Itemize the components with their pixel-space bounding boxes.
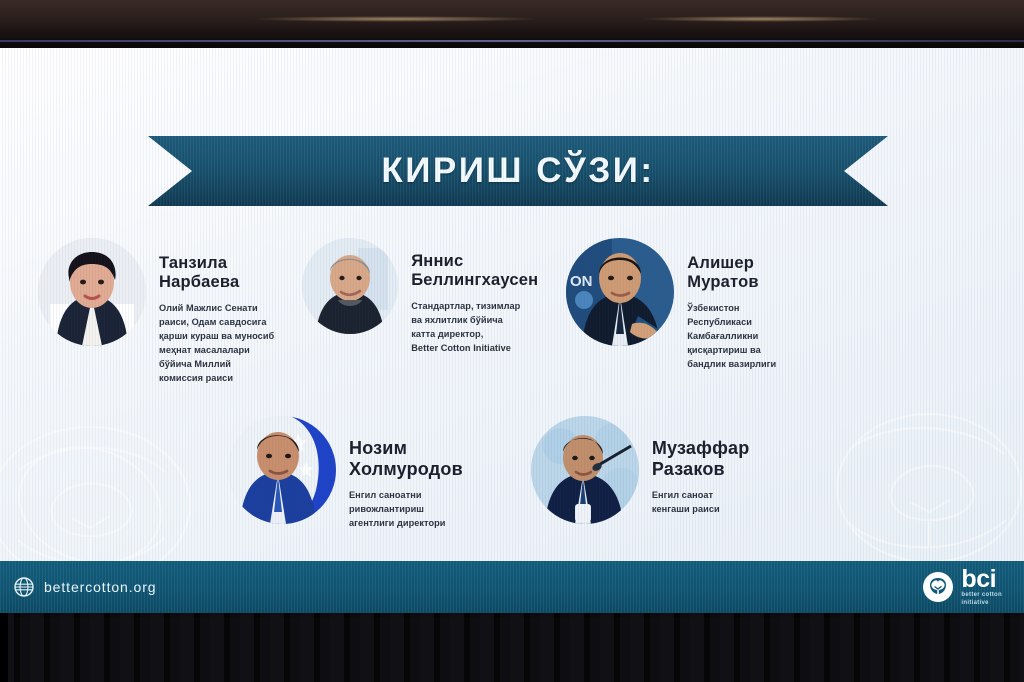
speaker-name: Яннис Беллингхаусен xyxy=(411,252,538,291)
speaker-name: Алишер Муратов xyxy=(687,254,776,293)
page-title: КИРИШ СЎЗИ: xyxy=(381,151,654,191)
avatar: ON xyxy=(566,238,674,346)
room-wall-backdrop xyxy=(0,0,1024,50)
avatar xyxy=(228,416,336,524)
speaker-role: Олий Мажлис Сенати раиси, Одам савдосига… xyxy=(159,302,274,386)
wall-light-strip xyxy=(0,40,1024,42)
speaker-card: ON xyxy=(566,238,776,386)
projection-screen: КИРИШ СЎЗИ: xyxy=(0,48,1024,613)
conference-room-photo: КИРИШ СЎЗИ: xyxy=(0,0,1024,682)
stage-left-shadow xyxy=(0,613,8,682)
website-group: bettercotton.org xyxy=(14,577,156,597)
globe-icon xyxy=(14,577,34,597)
speaker-list: Танзила Нарбаева Олий Мажлис Сенати раис… xyxy=(0,238,1024,531)
bci-word: bci xyxy=(961,565,996,593)
avatar xyxy=(38,238,146,346)
avatar xyxy=(531,416,639,524)
ceiling-light-glow-secondary xyxy=(640,16,880,22)
speaker-role: Енгил саноат кенгаши раиси xyxy=(652,489,750,517)
speaker-info: Танзила Нарбаева Олий Мажлис Сенати раис… xyxy=(146,238,274,386)
stage-skirt-pleats xyxy=(0,613,1024,682)
speaker-card: Музаффар Разаков Енгил саноат кенгаши ра… xyxy=(531,416,750,531)
slide-footer: bettercotton.org bci xyxy=(0,561,1024,613)
speaker-name: Нозим Холмуродов xyxy=(349,438,463,480)
ceiling-light-glow xyxy=(250,16,540,22)
speaker-info: Музаффар Разаков Енгил саноат кенгаши ра… xyxy=(639,416,750,517)
website-url[interactable]: bettercotton.org xyxy=(44,579,156,595)
svg-text:ON: ON xyxy=(570,273,593,290)
bci-wordmark: bci better cotton initiative xyxy=(961,567,1002,607)
speaker-info: Алишер Муратов Ўзбекистон Республикаси К… xyxy=(674,238,776,372)
stage-skirt xyxy=(0,613,1024,682)
bci-logo: bci better cotton initiative xyxy=(922,567,1002,607)
speaker-name: Танзила Нарбаева xyxy=(159,254,274,293)
speaker-role: Ўзбекистон Республикаси Камбағалликни қи… xyxy=(687,302,776,372)
speaker-row-top: Танзила Нарбаева Олий Мажлис Сенати раис… xyxy=(0,238,1024,386)
bci-tagline: better cotton initiative xyxy=(961,592,1002,607)
speaker-row-bottom: Нозим Холмуродов Енгил саноатни ривожлан… xyxy=(0,416,1024,531)
cotton-boll-icon xyxy=(922,571,954,603)
speaker-role: Енгил саноатни ривожлантириш агентлиги д… xyxy=(349,489,463,531)
slide-title-banner: КИРИШ СЎЗИ: xyxy=(148,136,888,206)
presentation-slide: КИРИШ СЎЗИ: xyxy=(0,48,1024,613)
speaker-card: Танзила Нарбаева Олий Мажлис Сенати раис… xyxy=(38,238,274,386)
avatar xyxy=(302,238,398,334)
speaker-card: Яннис Беллингхаусен Стандартлар, тизимла… xyxy=(302,238,538,386)
speaker-info: Яннис Беллингхаусен Стандартлар, тизимла… xyxy=(398,238,538,356)
speaker-info: Нозим Холмуродов Енгил саноатни ривожлан… xyxy=(336,416,463,531)
speaker-role: Стандартлар, тизимлар ва яхлитлик бўйича… xyxy=(411,300,538,356)
speaker-card: Нозим Холмуродов Енгил саноатни ривожлан… xyxy=(228,416,463,531)
speaker-name: Музаффар Разаков xyxy=(652,438,750,480)
